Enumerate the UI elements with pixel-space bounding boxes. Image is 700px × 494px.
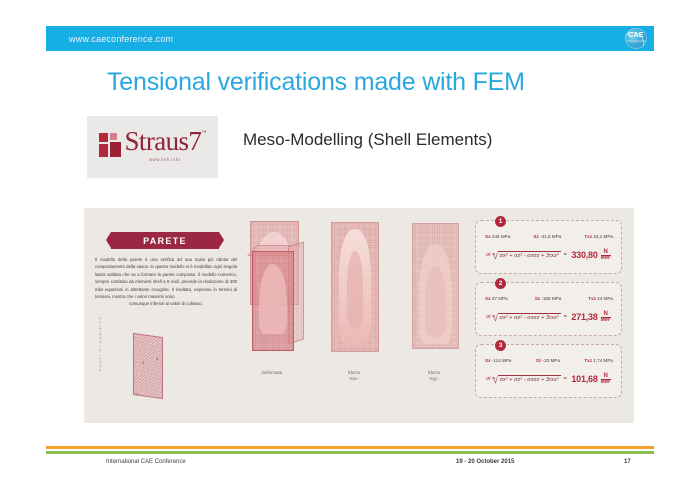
result-3-radicand: σx² + σz² - σxσz + 3τxz²: [498, 375, 561, 383]
result-3-value: 101,68: [571, 374, 597, 384]
result-1-sigma-symbol: σi: [486, 252, 490, 258]
result-2-unit-denominator: MM²: [601, 317, 611, 323]
result-1-radicand: σx² + σz² - σxσz + 3τxz²: [498, 251, 561, 259]
result-3-sz: Sz -33 MPa: [536, 358, 560, 363]
figure-panel: PARETE Il modello della parete è una ver…: [84, 208, 634, 423]
page-title: Tensional verifications made with FEM: [107, 68, 525, 97]
result-card-1: 1 Sx 246 MPa Sz -41,5 MPa Txz 23,1 MPa σ…: [475, 220, 622, 274]
result-1-sz-value: -41,5 MPa: [540, 234, 561, 239]
footer-page-number: 17: [624, 459, 631, 465]
straus7-logo-box: Straus7 ™ www.hsh.info: [87, 116, 218, 178]
fem-model-2-label: Sforzo -Sxx -: [319, 370, 389, 382]
result-1-txz-value: 23,1 MPa: [593, 234, 613, 239]
fem-model-2-label-line1: Sforzo: [348, 370, 360, 375]
result-1-value: 330,80: [571, 250, 597, 260]
result-card-1-stress-row: Sx 246 MPa Sz -41,5 MPa Txz 23,1 MPa: [485, 234, 613, 239]
result-2-sz: Sz -158 MPa: [535, 296, 562, 301]
fem-model-2-label-line2: -Sxx -: [348, 376, 359, 381]
result-1-result-equals: =: [564, 252, 567, 258]
verification-point-1: 1: [136, 391, 138, 396]
footer-rule-green: [46, 451, 654, 454]
verification-plate-diagram: [133, 333, 163, 399]
stress-contour-region: [259, 264, 287, 334]
cae-conference-logo-icon: CAE CONFERENCE: [625, 28, 647, 49]
result-1-sx: Sx 246 MPa: [485, 234, 510, 239]
result-3-sx-symbol: Sx: [485, 358, 491, 363]
fem-model-3-label: Sforzo -Syy -: [399, 370, 469, 382]
verification-point-2: 2: [142, 360, 144, 365]
slide-subtitle: Meso-Modelling (Shell Elements): [243, 130, 492, 150]
result-3-unit: N MM²: [601, 373, 611, 385]
result-card-3-badge: 3: [494, 339, 507, 352]
result-2-radicand: σx² + σz² - σxσz + 3τxz²: [498, 313, 561, 321]
result-card-1-formula: σi = σx² + σz² - σxσz + 3τxz² = 330,80 N…: [486, 249, 616, 261]
cae-logo-text: CAE: [625, 32, 647, 39]
result-card-2-formula: σi = σx² + σz² - σxσz + 3τxz² = 271,38 N…: [486, 311, 616, 323]
straus7-logo-inner: Straus7 ™ www.hsh.info: [94, 124, 212, 170]
footer-date: 19 - 20 October 2015: [456, 459, 514, 465]
result-3-sz-symbol: Sz: [536, 358, 541, 363]
result-card-2-stress-row: Sx 37 MPa Sz -158 MPa Txz 24 MPa: [485, 296, 613, 301]
verification-point-3: 3: [156, 356, 158, 361]
result-3-txz-symbol: Txz: [584, 358, 592, 363]
result-2-sz-symbol: Sz: [535, 296, 540, 301]
result-1-unit: N MM²: [601, 249, 611, 261]
punti-di-verifica-label: PUNTI DI VERIFICA: [98, 316, 103, 372]
result-1-txz: Txz 23,1 MPa: [584, 234, 613, 239]
slide-canvas: www.caeconference.com CAE CONFERENCE Ten…: [0, 0, 700, 494]
parete-description-last-line: comunque inferiori ai valori di collasso…: [95, 300, 237, 307]
result-2-sx: Sx 37 MPa: [485, 296, 508, 301]
result-card-3-stress-row: Sx -114 MPa Sz -33 MPa Txz 1,74 MPa: [485, 358, 613, 363]
straus7-squares-icon: [99, 133, 123, 157]
fem-model-3-label-line1: Sforzo: [428, 370, 440, 375]
result-card-1-badge: 1: [494, 215, 507, 228]
result-1-unit-denominator: MM²: [601, 255, 611, 261]
result-1-sz-symbol: Sz: [533, 234, 538, 239]
result-3-sigma-symbol: σi: [486, 376, 490, 382]
header-bar: www.caeconference.com CAE CONFERENCE: [46, 26, 654, 51]
stress-contour-core: [347, 251, 363, 329]
result-2-sigma-symbol: σi: [486, 314, 490, 320]
result-card-3-formula: σi = σx² + σz² - σxσz + 3τxz² = 101,68 N…: [486, 373, 616, 385]
result-3-unit-denominator: MM²: [601, 379, 611, 385]
result-2-value: 271,38: [571, 312, 597, 322]
fem-model-1-label-line1: Deformata: [262, 370, 282, 375]
straus7-url: www.hsh.info: [130, 157, 200, 162]
straus7-trademark-symbol: ™: [202, 130, 207, 136]
parete-description-body: Il modello della parete è una verifica a…: [95, 257, 237, 299]
parete-description-text: Il modello della parete è una verifica a…: [95, 256, 237, 308]
footer-rule-orange: [46, 446, 654, 449]
fem-model-deformed-front-face: [252, 251, 294, 351]
result-1-sz: Sz -41,5 MPa: [533, 234, 561, 239]
result-3-result-equals: =: [564, 376, 567, 382]
result-2-txz-symbol: Txz: [588, 296, 596, 301]
fem-model-stress-syy: [412, 223, 459, 349]
result-1-txz-symbol: Txz: [584, 234, 592, 239]
result-card-3: 3 Sx -114 MPa Sz -33 MPa Txz 1,74 MPa σi…: [475, 344, 622, 398]
footer-conference-name: International CAE Conference: [106, 459, 186, 465]
header-website-url[interactable]: www.caeconference.com: [69, 34, 173, 44]
fem-model-stress-sxx: [331, 222, 379, 352]
fem-model-1-label: Deformata: [237, 370, 307, 376]
stress-contour-core: [425, 266, 446, 338]
result-2-txz-value: 24 MPa: [597, 296, 613, 301]
straus7-wordmark: Straus7: [125, 126, 202, 157]
result-2-sx-value: 37 MPa: [492, 296, 508, 301]
result-card-2: 2 Sx 37 MPa Sz -158 MPa Txz 24 MPa σi = …: [475, 282, 622, 336]
footer: International CAE Conference 19 - 20 Oct…: [46, 457, 654, 473]
result-2-result-equals: =: [564, 314, 567, 320]
result-2-txz: Txz 24 MPa: [588, 296, 613, 301]
result-2-sx-symbol: Sx: [485, 296, 491, 301]
result-3-sx-value: -114 MPa: [492, 358, 512, 363]
fem-model-3-label-line2: -Syy -: [428, 376, 439, 381]
result-3-txz-value: 1,74 MPa: [593, 358, 613, 363]
result-2-sz-value: -158 MPa: [541, 296, 561, 301]
result-1-sx-value: 246 MPa: [492, 234, 510, 239]
result-1-sx-symbol: Sx: [485, 234, 491, 239]
parete-banner: PARETE: [111, 232, 219, 249]
result-card-2-badge: 2: [494, 277, 507, 290]
result-2-unit: N MM²: [601, 311, 611, 323]
result-3-sz-value: -33 MPa: [543, 358, 560, 363]
cae-logo-subtext: CONFERENCE: [625, 40, 647, 43]
result-3-txz: Txz 1,74 MPa: [584, 358, 613, 363]
result-3-sx: Sx -114 MPa: [485, 358, 511, 363]
